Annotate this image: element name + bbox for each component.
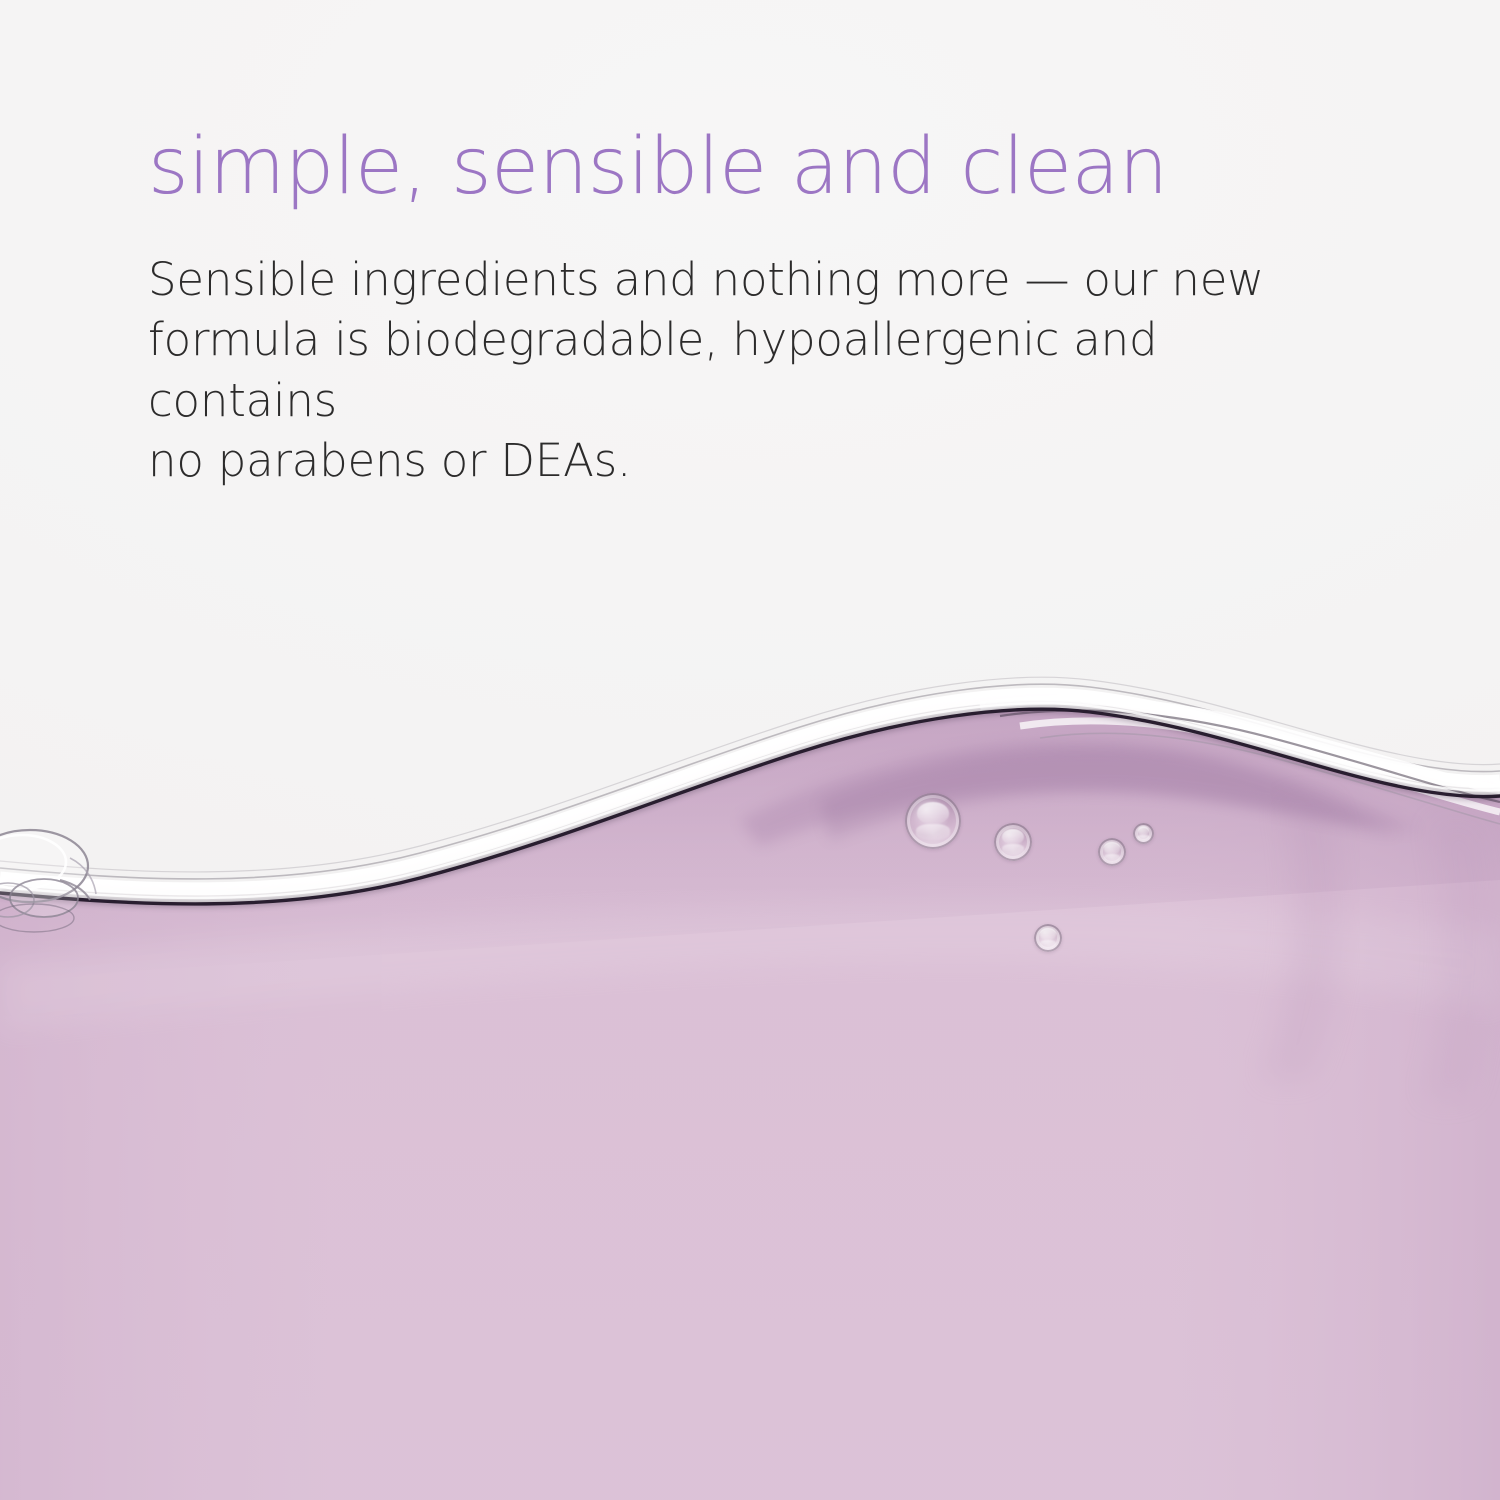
body-paragraph: Sensible ingredients and nothing more — … xyxy=(148,206,1328,491)
bubble-low xyxy=(1034,924,1062,952)
promo-panel: simple, sensible and clean Sensible ingr… xyxy=(0,0,1500,1500)
liquid-subsurface-haze xyxy=(0,709,1500,980)
liquid-body xyxy=(0,709,1500,1500)
bubble-small-a xyxy=(1098,838,1126,866)
bubble-medium xyxy=(994,823,1032,861)
body-line-1: Sensible ingredients and nothing more — … xyxy=(148,250,1328,310)
body-line-2: formula is biodegradable, hypoallergenic… xyxy=(148,310,1328,431)
bubble-small-b xyxy=(1133,823,1154,844)
liquid-refraction-bands xyxy=(0,741,1500,1100)
liquid-surface-line xyxy=(0,677,1500,904)
surface-foam-cluster xyxy=(0,830,96,932)
body-line-3: no parabens or DEAs. xyxy=(148,431,1328,491)
page-title: simple, sensible and clean xyxy=(148,128,1368,206)
bubble-large xyxy=(905,793,961,849)
copy-block: simple, sensible and clean Sensible ingr… xyxy=(148,128,1368,491)
